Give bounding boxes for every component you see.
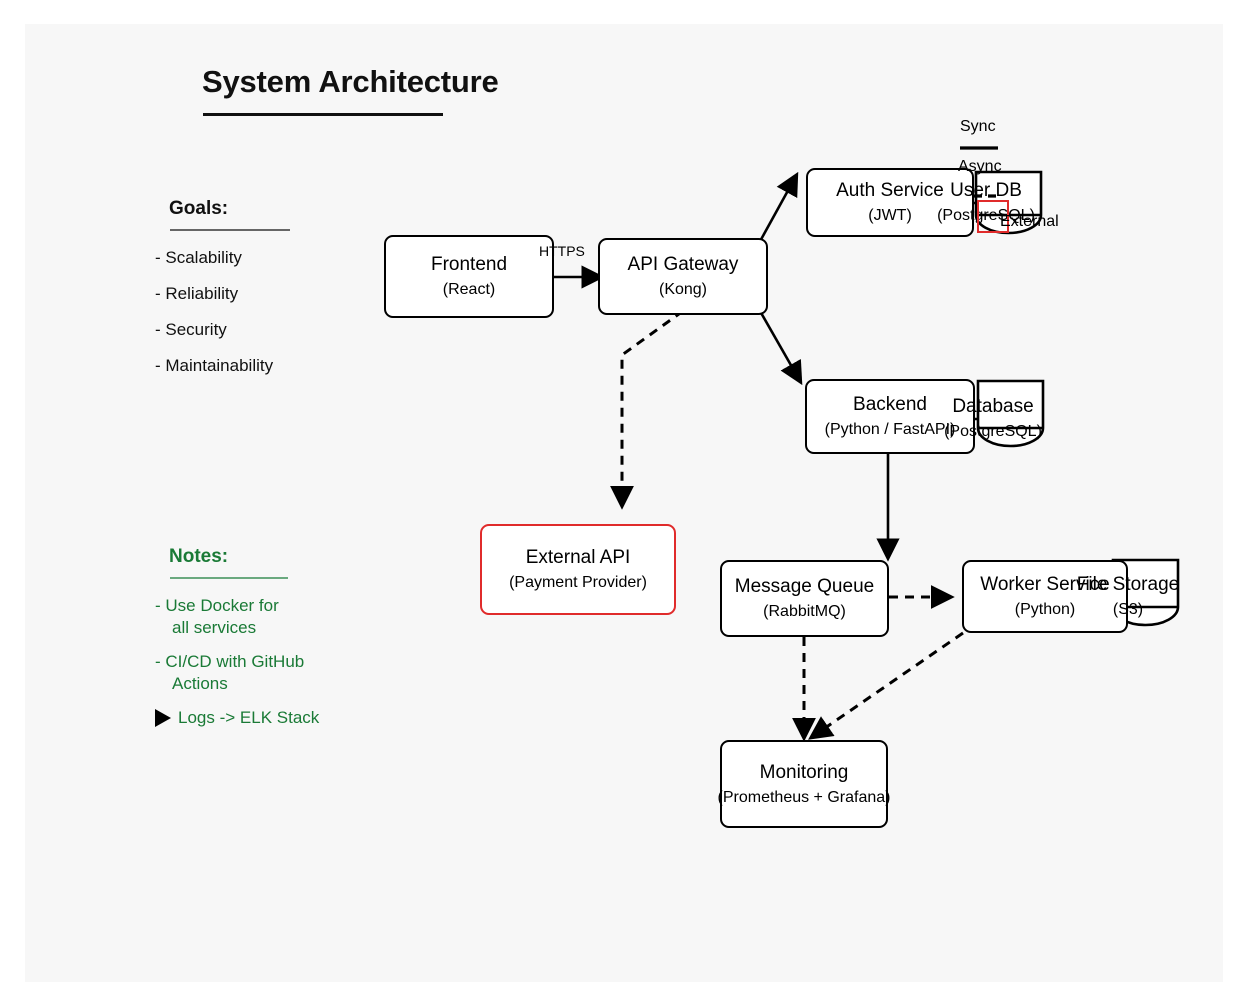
legend-external-label: External bbox=[1000, 212, 1059, 231]
datastore-filestorage-label: File Storage (S3) bbox=[1063, 573, 1193, 620]
notes-item-line1: Logs -> ELK Stack bbox=[178, 707, 319, 729]
node-subtitle: (React) bbox=[443, 280, 495, 300]
diagram-stage: System Architecture Goals: - Scalability… bbox=[0, 0, 1248, 1008]
edge-label-https: HTTPS bbox=[539, 243, 585, 259]
datastore-title: Database bbox=[928, 395, 1058, 418]
node-subtitle: (Kong) bbox=[659, 280, 707, 300]
notes-underline bbox=[170, 577, 288, 579]
notes-item: - CI/CD with GitHub Actions bbox=[155, 651, 319, 695]
node-title: Frontend bbox=[431, 253, 507, 276]
node-subtitle: (Payment Provider) bbox=[509, 573, 647, 593]
node-api-gateway[interactable]: API Gateway (Kong) bbox=[598, 238, 768, 315]
node-frontend[interactable]: Frontend (React) bbox=[384, 235, 554, 318]
goals-list: - Scalability - Reliability - Security -… bbox=[155, 247, 273, 391]
goals-heading: Goals: bbox=[169, 198, 228, 220]
node-external-api[interactable]: External API (Payment Provider) bbox=[480, 524, 676, 615]
legend-async-label: Async bbox=[958, 157, 1002, 176]
notes-item-line2: all services bbox=[155, 617, 319, 639]
edge-worker-monitoring bbox=[812, 633, 963, 737]
datastore-subtitle: (PostgreSQL) bbox=[928, 422, 1058, 442]
node-message-queue[interactable]: Message Queue (RabbitMQ) bbox=[720, 560, 889, 637]
edge-gateway-external bbox=[622, 311, 683, 505]
page-title: System Architecture bbox=[202, 64, 499, 100]
node-monitoring[interactable]: Monitoring (Prometheus + Grafana) bbox=[720, 740, 888, 828]
node-subtitle: (RabbitMQ) bbox=[763, 602, 846, 622]
datastore-title: File Storage bbox=[1063, 573, 1193, 596]
edge-layer bbox=[0, 0, 1248, 1008]
notes-list: - Use Docker for all services - CI/CD wi… bbox=[155, 595, 319, 741]
datastore-database-label: Database (PostgreSQL) bbox=[928, 395, 1058, 442]
node-title: External API bbox=[526, 546, 631, 569]
goals-item: - Reliability bbox=[155, 283, 273, 304]
node-title: API Gateway bbox=[628, 253, 739, 276]
play-triangle-icon bbox=[155, 709, 171, 727]
goals-item: - Security bbox=[155, 319, 273, 340]
notes-heading: Notes: bbox=[169, 546, 228, 568]
goals-underline bbox=[170, 229, 290, 231]
notes-item: - Use Docker for all services bbox=[155, 595, 319, 639]
page-title-underline bbox=[203, 113, 443, 116]
datastore-subtitle: (S3) bbox=[1063, 600, 1193, 620]
node-subtitle: (JWT) bbox=[868, 206, 912, 226]
notes-item-line2: Actions bbox=[155, 673, 319, 695]
node-title: Backend bbox=[853, 393, 927, 416]
notes-item-line1: - CI/CD with GitHub bbox=[155, 651, 319, 673]
notes-item-line1: - Use Docker for bbox=[155, 595, 319, 617]
goals-item: - Maintainability bbox=[155, 355, 273, 376]
node-title: Monitoring bbox=[760, 761, 849, 784]
notes-item: Logs -> ELK Stack bbox=[155, 707, 319, 729]
edge-gateway-auth bbox=[758, 176, 796, 245]
datastore-title: User DB bbox=[926, 179, 1046, 202]
goals-item: - Scalability bbox=[155, 247, 273, 268]
node-subtitle: (Prometheus + Grafana) bbox=[718, 788, 891, 808]
node-title: Message Queue bbox=[735, 575, 874, 598]
legend-sync-label: Sync bbox=[960, 117, 996, 136]
edge-gateway-backend bbox=[760, 311, 800, 381]
